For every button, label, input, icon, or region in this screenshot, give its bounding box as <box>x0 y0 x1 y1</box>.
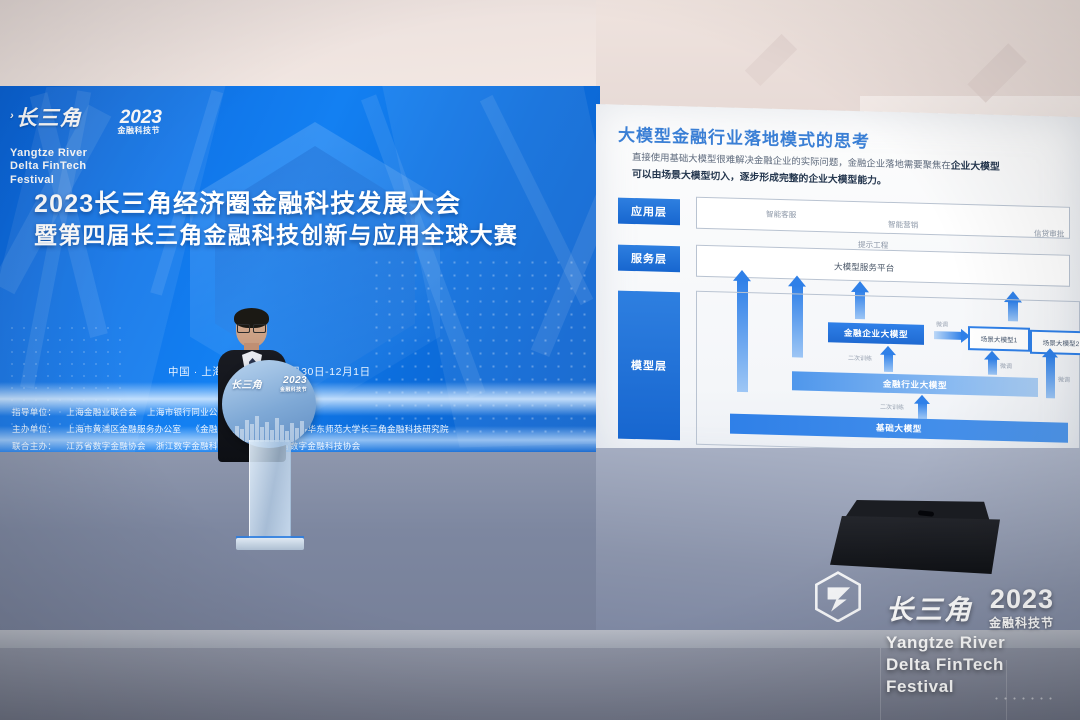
finetune-label-2: 微调 <box>1000 361 1012 370</box>
organizer-name: 华东师范大学长三角金融科技研究院 <box>307 424 449 434</box>
watermark-logo: 长三角 2023 金融科技节 Yangtze River Delta FinTe… <box>808 566 1058 706</box>
finetune-label: 微调 <box>936 319 948 328</box>
chevron-right-icon: › <box>10 111 15 122</box>
up-arrow-head <box>788 275 806 286</box>
podium-logo-panel: 长三角 2023 金融科技节 <box>222 360 316 448</box>
podium-logo-sub: 金融科技节 <box>280 386 307 393</box>
up-arrow-head <box>1042 348 1058 357</box>
logo-cn-sub: 金融科技节 <box>118 125 161 136</box>
watermark-en-line2: Delta FinTech <box>886 654 1005 676</box>
skyline-building <box>275 418 279 442</box>
organizer-name: 江苏省数字金融协会 <box>66 441 146 451</box>
up-arrow-head <box>851 281 869 292</box>
podium-logo-cn: 长三角 <box>231 380 262 391</box>
up-arrow-head <box>880 346 896 355</box>
layer-tag-application: 应用层 <box>618 198 680 226</box>
slide-body-line1-bold: 企业大模型 <box>951 161 1000 173</box>
podium-logo-year: 2023 <box>283 375 307 386</box>
logo-en-line3: Festival <box>10 174 160 187</box>
logo-en-line2: Delta FinTech <box>10 160 160 173</box>
skyline-building <box>300 421 304 442</box>
watermark-cn-sub: 金融科技节 <box>989 614 1054 631</box>
skyline-building <box>240 429 244 442</box>
app-item-smart-service: 智能客服 <box>766 209 796 221</box>
organizer-name: 上海市黄浦区金融服务办公室 <box>66 424 181 434</box>
podium-festival-logo: 长三角 2023 金融科技节 <box>231 376 309 391</box>
podium: 长三角 2023 金融科技节 <box>222 360 316 555</box>
logo-en-line1: Yangtze River <box>10 147 160 160</box>
skyline-building <box>235 426 239 442</box>
skyline-building <box>265 422 269 442</box>
organizer-label: 指导单位： <box>12 407 56 417</box>
up-arrow-head <box>914 395 930 404</box>
podium-base <box>236 538 304 550</box>
model-enterprise: 金融企业大模型 <box>828 322 924 345</box>
layer-tag-service: 服务层 <box>618 245 680 273</box>
finetune-label-3: 微调 <box>1058 375 1070 384</box>
stage-monitor-speaker <box>830 500 1000 574</box>
skyline-building <box>245 420 249 442</box>
yangtze-delta-mark-icon <box>812 570 864 622</box>
skyline-building <box>305 429 309 442</box>
watermark-cn-name: 长三角 <box>886 588 973 627</box>
scene-model-1: 场景大模型1 <box>968 326 1030 352</box>
podium-skyline-graphic <box>230 408 308 442</box>
app-item-credit-approval: 信贷审批 <box>1034 228 1064 240</box>
watermark-en-line3: Festival <box>886 676 1005 698</box>
up-arrow-shaft <box>884 354 893 372</box>
app-item-smart-marketing: 智能营销 <box>888 219 918 231</box>
retrain-label-2: 二次训练 <box>880 402 904 412</box>
organizer-label: 主办单位： <box>12 424 56 434</box>
up-arrow-head <box>733 270 751 281</box>
podium-column <box>249 440 291 540</box>
event-headline: 2023长三角经济圈金融科技发展大会 暨第四届长三角金融科技创新与应用全球大赛 <box>34 188 574 251</box>
organizer-name: 上海金融业联合会 <box>66 407 137 417</box>
conference-photo: ›长三角 2023 金融科技节 Yangtze River Delta FinT… <box>0 0 1080 720</box>
headline-line-1: 2023长三角经济圈金融科技发展大会 <box>34 188 574 220</box>
backdrop-festival-logo: ›长三角 2023 金融科技节 Yangtze River Delta FinT… <box>10 108 160 187</box>
up-arrow-shaft <box>1046 356 1055 398</box>
slide-body: 直接使用基础大模型很难解决金融企业的实际问题，金融企业落地需要聚焦在企业大模型 … <box>632 149 1076 195</box>
slide-body-line2: 可以由场景大模型切入，逐步形成完整的企业大模型能力。 <box>632 169 887 187</box>
watermark-year: 2023 <box>990 584 1054 615</box>
watermark-en-line1: Yangtze River <box>886 632 1005 654</box>
up-arrow-head <box>984 350 1000 359</box>
up-arrow-shaft <box>988 359 997 375</box>
logo-cn-name: ›长三角 <box>10 107 82 130</box>
layer-tag-model: 模型层 <box>618 291 680 441</box>
finetune-right-arrow <box>934 331 962 340</box>
watermark-dot-accent <box>992 694 1052 704</box>
up-arrow-shaft <box>918 403 927 419</box>
skyline-building <box>255 416 259 442</box>
organizer-name: 上海市银行同业公会 <box>147 407 227 417</box>
skyline-building <box>295 428 299 442</box>
organizer-label: 联合主办： <box>12 441 56 451</box>
layer-box-application <box>696 197 1070 239</box>
slide-title: 大模型金融行业落地模式的思考 <box>618 121 870 153</box>
skyline-building <box>230 432 234 442</box>
projection-screen: 大模型金融行业落地模式的思考 直接使用基础大模型很难解决金融企业的实际问题，金融… <box>596 104 1080 479</box>
logo-en-name: Yangtze River Delta FinTech Festival <box>10 147 160 187</box>
headline-line-2: 暨第四届长三角金融科技创新与应用全球大赛 <box>34 220 574 251</box>
retrain-label-1: 二次训练 <box>848 353 872 363</box>
glasses-icon <box>237 324 266 331</box>
watermark-en-name: Yangtze River Delta FinTech Festival <box>886 632 1005 698</box>
service-item-platform: 大模型服务平台 <box>834 260 894 274</box>
